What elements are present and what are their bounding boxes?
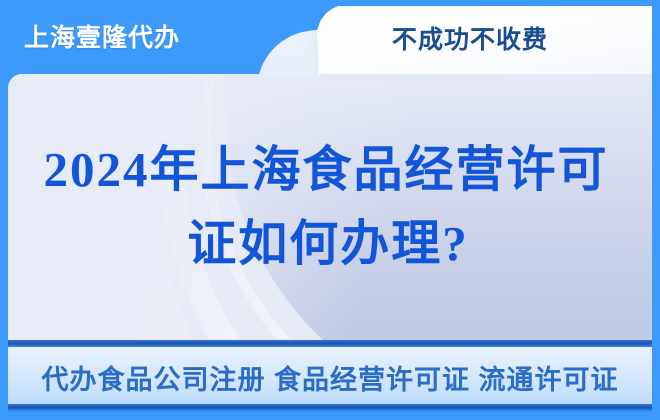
- title-line-1: 2024年上海食品经营许可: [43, 133, 608, 207]
- footer-bar: 代办食品公司注册 食品经营许可证 流通许可证: [8, 347, 652, 407]
- title-line-2: 证如何办理?: [187, 207, 469, 281]
- frame-edge-bottom: [0, 412, 660, 420]
- header-bar: 上海壹隆代办 不成功不收费: [0, 0, 660, 76]
- page-title: 2024年上海食品经营许可 证如何办理?: [8, 74, 652, 340]
- footer-underline: [8, 404, 652, 410]
- footer-divider: [8, 340, 652, 347]
- header-slogan: 不成功不收费: [392, 20, 548, 56]
- brand-title: 上海壹隆代办: [24, 18, 180, 54]
- footer-keywords: 代办食品公司注册 食品经营许可证 流通许可证: [41, 358, 618, 397]
- content-card: 2024年上海食品经营许可 证如何办理?: [8, 74, 652, 340]
- poster-canvas: 2024年上海食品经营许可 证如何办理? 上海壹隆代办 不成功不收费 代办食品公…: [0, 0, 660, 420]
